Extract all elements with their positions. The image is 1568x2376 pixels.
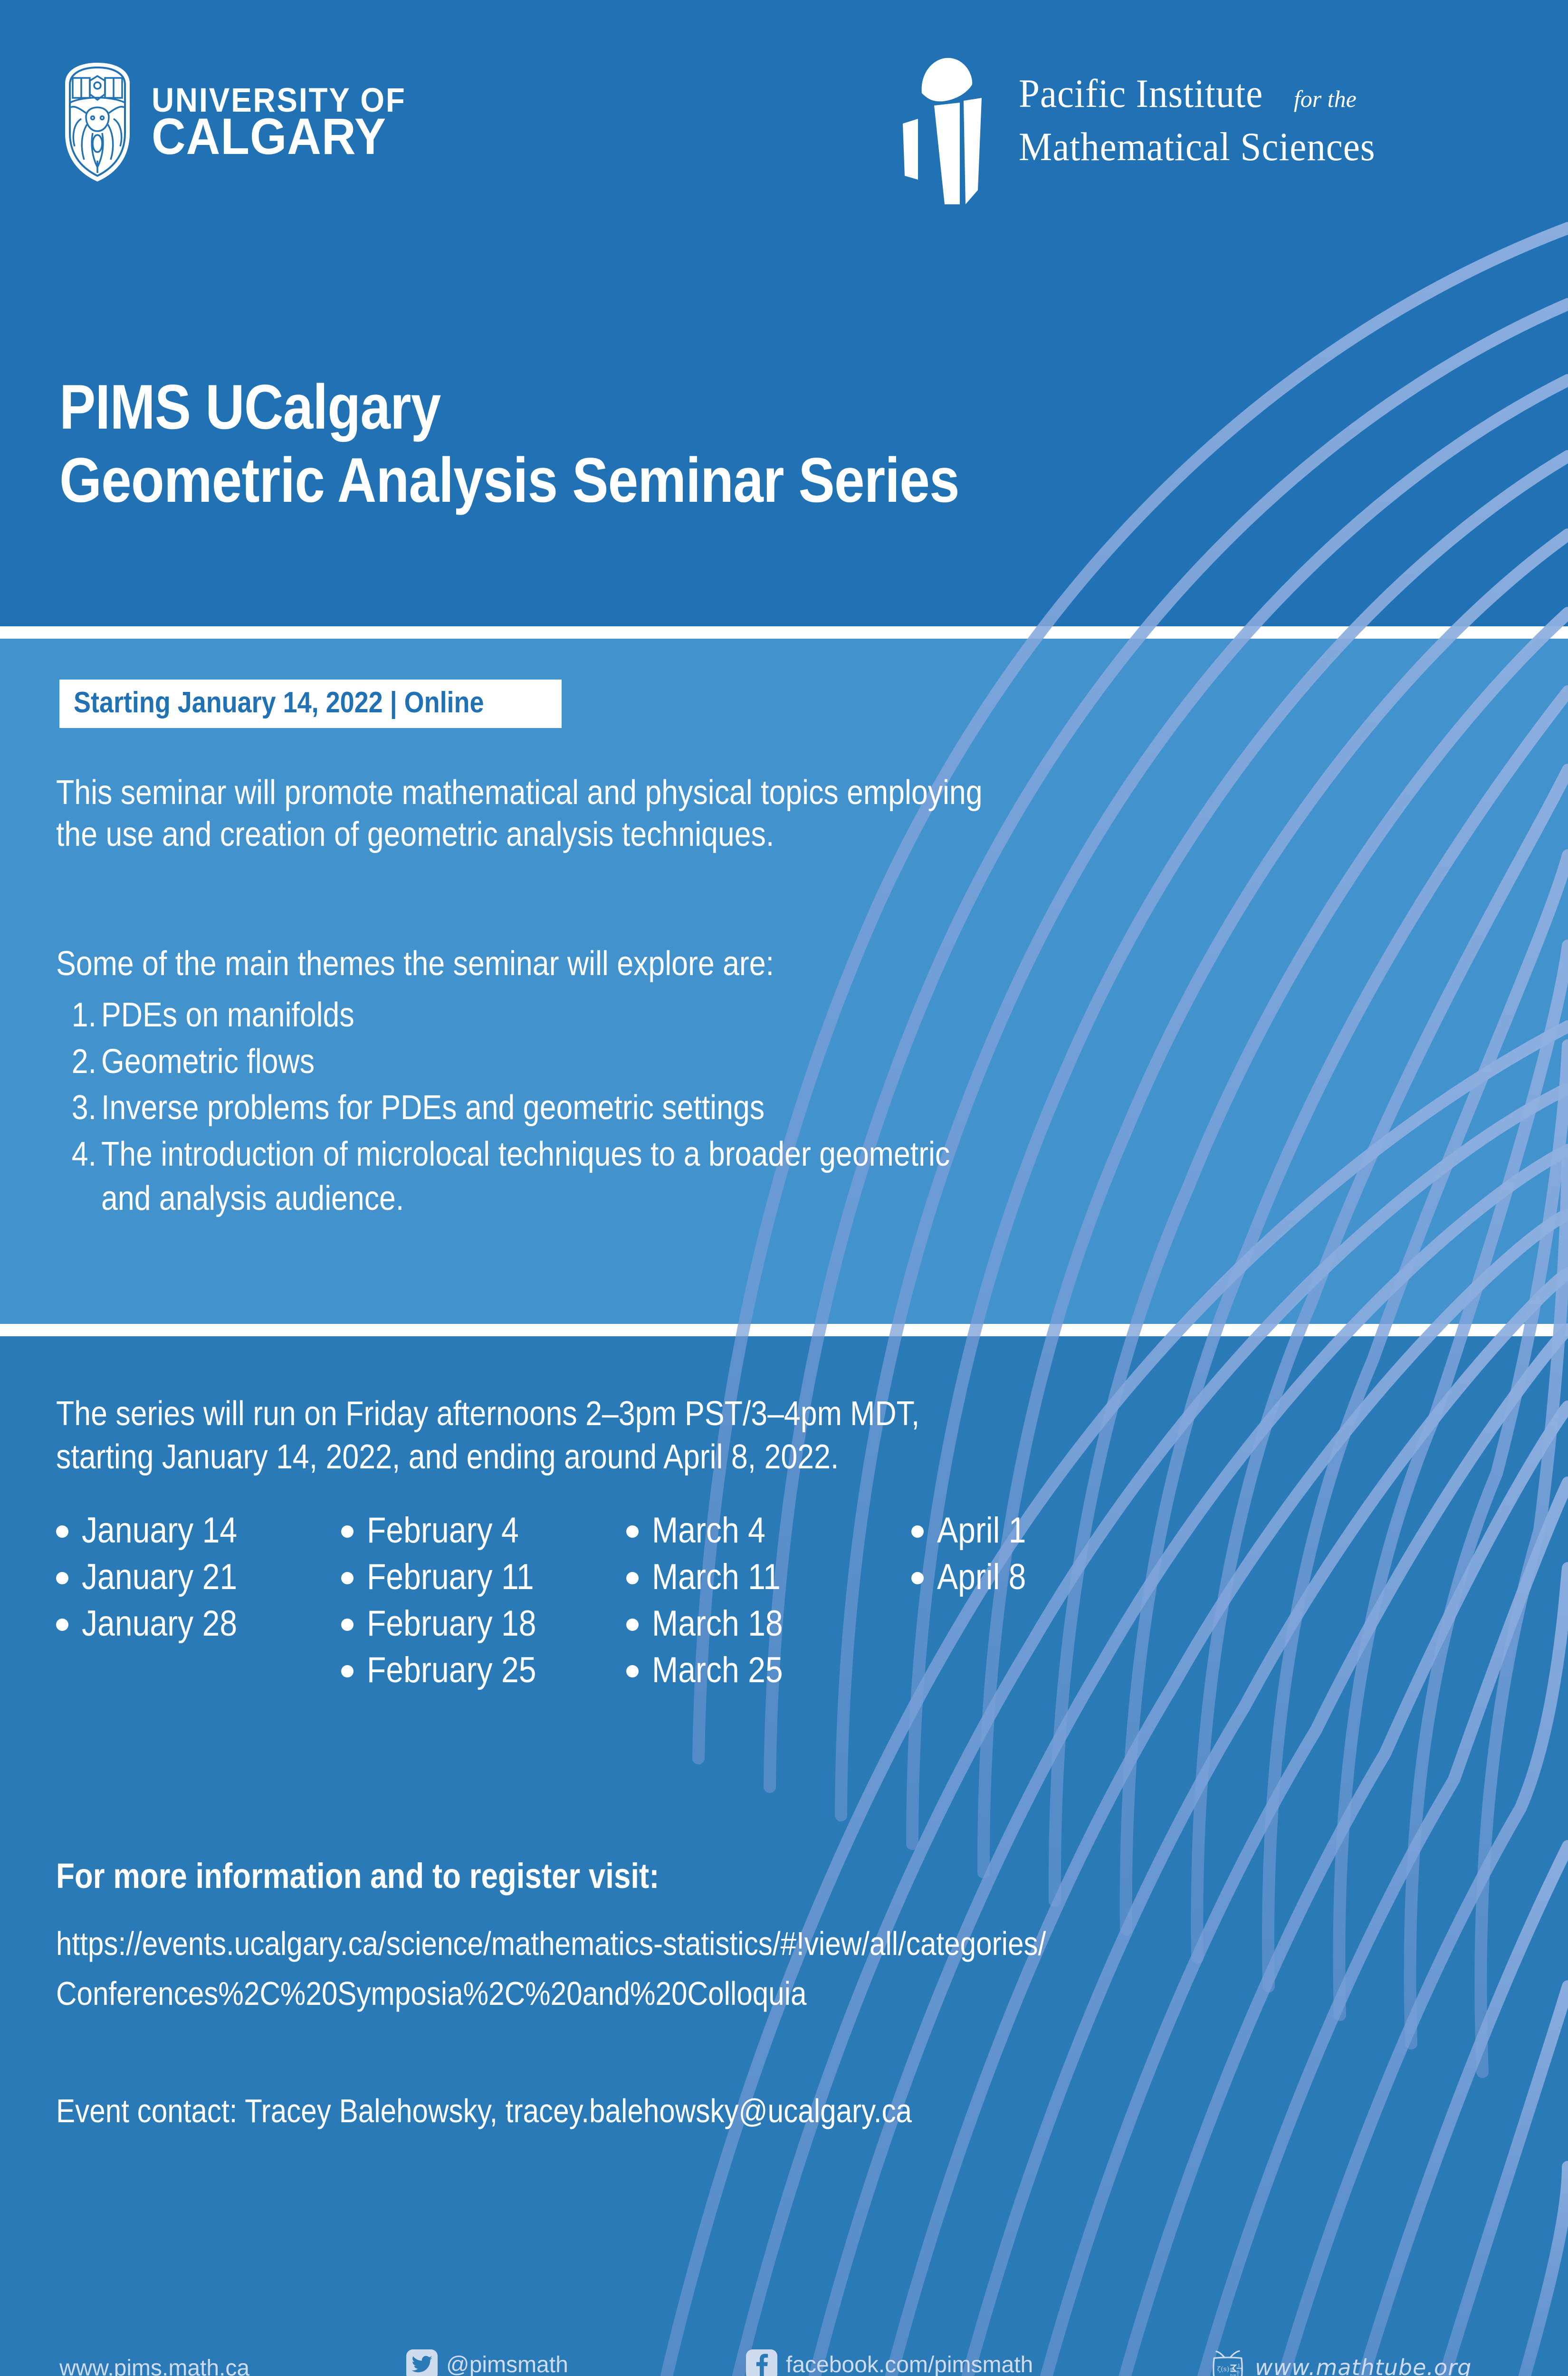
footer-mathtube-label: www.mathtube.org bbox=[1255, 2357, 1472, 2376]
theme-number: 1. bbox=[64, 993, 96, 1038]
date-label: January 14 bbox=[82, 1511, 237, 1550]
themes-heading: Some of the main themes the seminar will… bbox=[56, 943, 881, 985]
date-label: January 28 bbox=[82, 1604, 237, 1643]
list-item: February 25 bbox=[341, 1651, 626, 1690]
date-label: March 11 bbox=[652, 1558, 781, 1597]
themes-list: 1. PDEs on manifolds 2. Geometric flows … bbox=[59, 993, 1461, 1223]
divider-rule-top bbox=[0, 626, 1568, 639]
date-label: March 4 bbox=[652, 1511, 765, 1550]
list-item: April 1 bbox=[911, 1511, 1196, 1550]
footer-facebook[interactable]: facebook.com/pimsmath bbox=[746, 2349, 1033, 2376]
date-column-march: March 4 March 11 March 18 March 25 bbox=[626, 1511, 911, 1697]
svg-text:1: 1 bbox=[1237, 2363, 1240, 2368]
theme-text: PDEs on manifolds bbox=[101, 993, 354, 1038]
ucalgary-line2: CALGARY bbox=[152, 115, 406, 158]
logo-row: UNIVERSITY OF CALGARY Pacific Institute … bbox=[0, 52, 1568, 195]
theme-number: 3. bbox=[64, 1086, 96, 1131]
registration-block: For more information and to register vis… bbox=[56, 1853, 1505, 2019]
bullet-icon bbox=[626, 1572, 639, 1584]
list-item: February 18 bbox=[341, 1604, 626, 1643]
theme-text: Geometric flows bbox=[101, 1040, 315, 1084]
list-item: February 4 bbox=[341, 1511, 626, 1550]
facebook-f-icon bbox=[746, 2349, 777, 2376]
event-contact-label[interactable]: Event contact: Tracey Balehowsky, tracey… bbox=[56, 2091, 912, 2131]
footer-facebook-label: facebook.com/pimsmath bbox=[786, 2354, 1033, 2376]
intro-line-1: This seminar will promote mathematical a… bbox=[56, 772, 1255, 814]
bullet-icon bbox=[341, 1572, 354, 1584]
ucalgary-wordmark: UNIVERSITY OF CALGARY bbox=[152, 86, 428, 158]
ucalgary-logo: UNIVERSITY OF CALGARY bbox=[59, 62, 428, 183]
twitter-bird-icon bbox=[406, 2349, 438, 2376]
list-item: March 11 bbox=[626, 1558, 911, 1597]
badge-label: Starting January 14, 2022 | Online bbox=[74, 688, 484, 718]
bullet-icon bbox=[341, 1525, 354, 1538]
date-location-badge: Starting January 14, 2022 | Online bbox=[59, 680, 562, 728]
schedule-note-line-1: The series will run on Friday afternoons… bbox=[56, 1392, 1255, 1436]
pims-line1: Pacific Institute bbox=[1019, 70, 1263, 117]
list-item: March 18 bbox=[626, 1604, 911, 1643]
date-column-january: January 14 January 21 January 28 bbox=[56, 1511, 341, 1697]
bullet-icon bbox=[56, 1525, 68, 1538]
list-item: March 4 bbox=[626, 1511, 911, 1550]
pims-italic: for the bbox=[1294, 85, 1357, 113]
theme-number: 4. bbox=[64, 1132, 96, 1177]
intro-paragraph: This seminar will promote mathematical a… bbox=[56, 772, 1434, 856]
footer-mathtube[interactable]: ζ(s)= n=1 1 n s www.mathtube.org bbox=[1209, 2347, 1472, 2376]
schedule-note: The series will run on Friday afternoons… bbox=[56, 1392, 1434, 1478]
bullet-icon bbox=[911, 1525, 924, 1538]
pims-inukshuk-icon bbox=[889, 48, 1007, 204]
list-item: January 28 bbox=[56, 1604, 341, 1643]
date-label: March 18 bbox=[652, 1604, 783, 1643]
title-line-2: Geometric Analysis Seminar Series bbox=[59, 444, 1244, 517]
svg-text:ζ(s)=: ζ(s)= bbox=[1217, 2366, 1235, 2373]
svg-text:n: n bbox=[1237, 2369, 1240, 2375]
list-item: April 8 bbox=[911, 1558, 1196, 1597]
themes-heading-label: Some of the main themes the seminar will… bbox=[56, 943, 774, 985]
bullet-icon bbox=[911, 1572, 924, 1584]
intro-line-2: the use and creation of geometric analys… bbox=[56, 814, 1255, 856]
pims-line2: Mathematical Sciences bbox=[1019, 124, 1375, 170]
list-item: March 25 bbox=[626, 1651, 911, 1690]
bullet-icon bbox=[341, 1665, 354, 1677]
bullet-icon bbox=[56, 1572, 68, 1584]
footer-twitter-label: @pimsmath bbox=[446, 2354, 568, 2376]
bullet-icon bbox=[626, 1665, 639, 1677]
list-item: 1. PDEs on manifolds bbox=[59, 993, 1461, 1038]
theme-text: The introduction of microlocal technique… bbox=[101, 1132, 950, 1221]
ucalgary-shield-icon bbox=[59, 62, 135, 183]
theme-number: 2. bbox=[64, 1040, 96, 1084]
pims-logo: Pacific Institute for the Mathematical S… bbox=[889, 48, 1402, 204]
bullet-icon bbox=[341, 1619, 354, 1631]
poster-canvas: UNIVERSITY OF CALGARY Pacific Institute … bbox=[0, 0, 1568, 2376]
date-label: February 25 bbox=[367, 1651, 536, 1690]
date-label: April 1 bbox=[937, 1511, 1026, 1550]
date-label: January 21 bbox=[82, 1558, 237, 1597]
date-column-april: April 1 April 8 bbox=[911, 1511, 1196, 1697]
footer-website[interactable]: www.pims.math.ca bbox=[59, 2357, 249, 2376]
list-item: 4. The introduction of microlocal techni… bbox=[59, 1132, 1461, 1221]
list-item: 2. Geometric flows bbox=[59, 1040, 1461, 1084]
event-contact: Event contact: Tracey Balehowsky, tracey… bbox=[56, 2091, 1051, 2131]
schedule-note-line-2: starting January 14, 2022, and ending ar… bbox=[56, 1436, 1255, 1479]
list-item: January 14 bbox=[56, 1511, 341, 1550]
register-url-line-2[interactable]: Conferences%2C%20Symposia%2C%20and%20Col… bbox=[56, 1969, 1302, 2019]
bullet-icon bbox=[56, 1619, 68, 1631]
bullet-icon bbox=[626, 1525, 639, 1538]
date-label: February 18 bbox=[367, 1604, 536, 1643]
bullet-icon bbox=[626, 1619, 639, 1631]
date-label: February 4 bbox=[367, 1511, 519, 1550]
list-item: January 21 bbox=[56, 1558, 341, 1597]
pims-wordmark: Pacific Institute for the Mathematical S… bbox=[1019, 48, 1402, 170]
title-line-1: PIMS UCalgary bbox=[59, 371, 1244, 444]
date-label: April 8 bbox=[937, 1558, 1026, 1597]
divider-rule-bottom bbox=[0, 1324, 1568, 1336]
footer-bar: www.pims.math.ca @pimsmath facebook.com/… bbox=[0, 2339, 1568, 2376]
page-title: PIMS UCalgary Geometric Analysis Seminar… bbox=[59, 371, 1437, 517]
register-heading: For more information and to register vis… bbox=[56, 1853, 1302, 1899]
date-grid: January 14 January 21 January 28 Februar… bbox=[56, 1511, 1196, 1697]
register-url-line-1[interactable]: https://events.ucalgary.ca/science/mathe… bbox=[56, 1919, 1302, 1969]
date-column-february: February 4 February 11 February 18 Febru… bbox=[341, 1511, 626, 1697]
mathtube-tv-icon: ζ(s)= n=1 1 n s bbox=[1209, 2347, 1246, 2376]
footer-twitter[interactable]: @pimsmath bbox=[406, 2349, 568, 2376]
list-item: February 11 bbox=[341, 1558, 626, 1597]
list-item: 3. Inverse problems for PDEs and geometr… bbox=[59, 1086, 1461, 1131]
theme-text: Inverse problems for PDEs and geometric … bbox=[101, 1086, 765, 1131]
date-label: March 25 bbox=[652, 1651, 783, 1690]
date-label: February 11 bbox=[367, 1558, 534, 1597]
footer-website-label: www.pims.math.ca bbox=[59, 2357, 249, 2376]
